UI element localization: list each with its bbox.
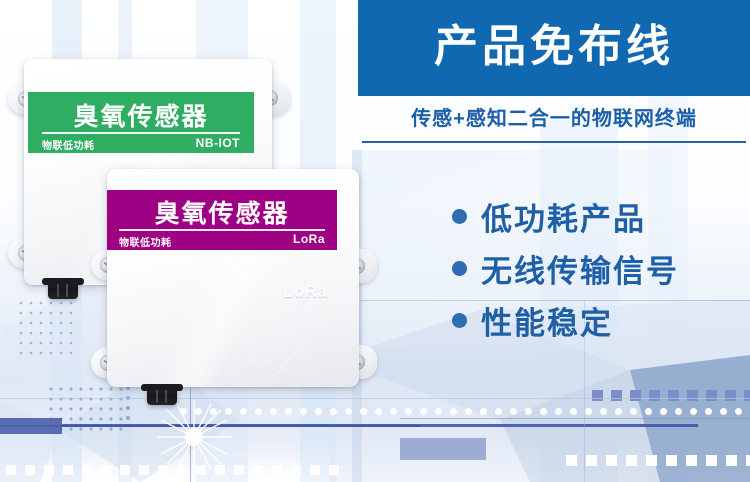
cable-gland-rib [156,390,158,403]
page-subtitle: 传感+感知二合一的物联网终端 [358,104,750,134]
background-square-strip [592,390,750,401]
feature-label: 低功耗产品 [481,194,646,239]
feature-item: 低功耗产品 [452,190,750,242]
product-label-divider [119,229,325,231]
product-label-divider [42,132,240,134]
feature-list: 低功耗产品 无线传输信号 性能稳定 [452,190,750,346]
cable-gland-rib [57,284,59,297]
product-label-lora: 臭氧传感器 物联低功耗 LoRa [107,190,337,250]
page-title: 产品免布线 [358,16,750,78]
feature-item: 性能稳定 [452,294,750,346]
product-label-nbiot: 臭氧传感器 物联低功耗 NB-IOT [28,92,254,153]
banner-stage: 产品免布线 传感+感知二合一的物联网终端 低功耗产品 无线传输信号 性能稳定 [0,0,750,482]
feature-label: 性能稳定 [481,298,613,343]
product-label-footnote: 物联低功耗 [42,137,95,152]
background-accent-block [0,418,62,434]
product-label-protocol: LoRa [293,232,325,246]
background-dot-strip [180,408,742,415]
product-label-title: 臭氧传感器 [107,194,337,230]
cable-gland-cap [42,278,84,285]
background-accent-line [400,418,750,419]
bullet-icon [452,313,467,328]
product-device-lora: 臭氧传感器 物联低功耗 LoRa LoRa [85,155,385,405]
enclosure-watermark: LoRa [283,282,328,302]
cable-gland-cap [141,384,183,391]
background-accent-block [400,438,486,460]
cable-gland-rib [66,284,68,297]
subtitle-divider [362,141,746,143]
feature-label: 无线传输信号 [481,246,679,291]
feature-item: 无线传输信号 [452,242,750,294]
product-label-protocol: NB-IOT [196,136,240,150]
product-label-footnote: 物联低功耗 [119,234,172,249]
cable-gland-rib [165,390,167,403]
product-label-title: 臭氧传感器 [28,97,254,133]
sparkle-icon [155,398,233,476]
bullet-icon [452,209,467,224]
background-square-strip [566,455,750,466]
bullet-icon [452,261,467,276]
